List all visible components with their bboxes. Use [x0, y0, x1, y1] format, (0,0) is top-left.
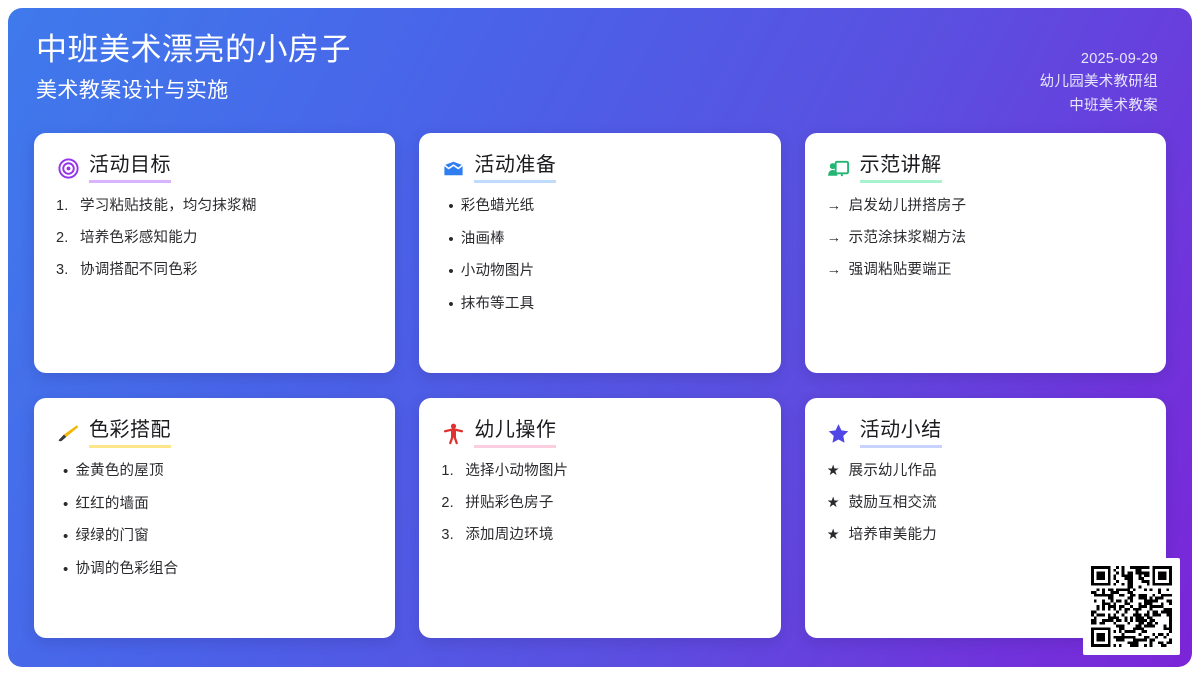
open-box-icon: [441, 156, 465, 180]
list-marker: •: [56, 462, 68, 482]
card-list: →启发幼儿拼搭房子→示范涂抹浆糊方法→强调粘贴要端正: [827, 197, 1144, 280]
list-item-text: 鼓励互相交流: [849, 494, 937, 513]
card-header: 活动目标: [56, 153, 373, 183]
list-marker: →: [827, 261, 842, 280]
list-marker: •: [56, 560, 68, 580]
page-title: 中班美术漂亮的小房子: [36, 30, 351, 70]
list-item: •绿绿的门窗: [56, 527, 373, 547]
list-item: 1.学习粘贴技能，均匀抹浆糊: [56, 197, 373, 216]
list-item-text: 金黄色的屋顶: [75, 462, 163, 481]
list-item-text: 油画棒: [461, 230, 505, 249]
list-item: ★培养审美能力: [827, 526, 1144, 545]
page-subtitle: 美术教案设计与实施: [36, 78, 351, 104]
slide-root: 中班美术漂亮的小房子 美术教案设计与实施 2025-09-29 幼儿园美术教研组…: [0, 0, 1200, 675]
card-list: ★展示幼儿作品★鼓励互相交流★培养审美能力: [827, 462, 1144, 545]
list-marker: •: [441, 262, 453, 282]
list-item-text: 培养审美能力: [849, 526, 937, 545]
list-item: ★展示幼儿作品: [827, 462, 1144, 481]
list-item-text: 协调的色彩组合: [75, 560, 178, 579]
card-list: •彩色蜡光纸•油画棒•小动物图片•抹布等工具: [441, 197, 758, 314]
card-header: 活动小结: [827, 418, 1144, 448]
card-title: 色彩搭配: [89, 418, 171, 448]
list-item-text: 强调粘贴要端正: [849, 261, 952, 280]
list-marker: •: [441, 197, 453, 217]
list-item: 1.选择小动物图片: [441, 462, 758, 481]
slide-canvas: 中班美术漂亮的小房子 美术教案设计与实施 2025-09-29 幼儿园美术教研组…: [8, 8, 1192, 667]
card-header: 示范讲解: [827, 153, 1144, 183]
list-item: •抹布等工具: [441, 295, 758, 315]
list-item: ★鼓励互相交流: [827, 494, 1144, 513]
list-item-text: 协调搭配不同色彩: [80, 261, 198, 280]
list-item-text: 启发幼儿拼搭房子: [849, 197, 967, 216]
card-title: 示范讲解: [860, 153, 942, 183]
list-marker: 1.: [441, 462, 458, 481]
paintbrush-icon: [56, 421, 80, 445]
list-item-text: 红红的墙面: [75, 495, 149, 514]
card-list: 1.学习粘贴技能，均匀抹浆糊2.培养色彩感知能力3.协调搭配不同色彩: [56, 197, 373, 280]
list-marker: 2.: [56, 229, 73, 248]
card-header: 活动准备: [441, 153, 758, 183]
list-marker: 3.: [56, 261, 73, 280]
card-title: 幼儿操作: [474, 418, 556, 448]
list-marker: ★: [827, 462, 842, 481]
card-activity-preparation: 活动准备•彩色蜡光纸•油画棒•小动物图片•抹布等工具: [419, 133, 780, 373]
card-header: 色彩搭配: [56, 418, 373, 448]
list-marker: •: [441, 295, 453, 315]
list-item-text: 选择小动物图片: [465, 462, 568, 481]
list-item: →启发幼儿拼搭房子: [827, 197, 1144, 216]
card-color-matching: 色彩搭配•金黄色的屋顶•红红的墙面•绿绿的门窗•协调的色彩组合: [34, 398, 395, 638]
list-item-text: 培养色彩感知能力: [80, 229, 198, 248]
qr-code-container[interactable]: [1083, 558, 1180, 655]
list-item: •小动物图片: [441, 262, 758, 282]
list-item: 2.培养色彩感知能力: [56, 229, 373, 248]
child-figure-icon: [441, 421, 465, 445]
list-marker: ★: [827, 526, 842, 545]
list-item-text: 学习粘贴技能，均匀抹浆糊: [80, 197, 256, 216]
list-marker: 3.: [441, 526, 458, 545]
list-item: •协调的色彩组合: [56, 560, 373, 580]
list-marker: •: [56, 527, 68, 547]
list-item-text: 拼贴彩色房子: [465, 494, 553, 513]
list-item: •彩色蜡光纸: [441, 197, 758, 217]
card-title: 活动小结: [860, 418, 942, 448]
list-item: 2.拼贴彩色房子: [441, 494, 758, 513]
target-icon: [56, 156, 80, 180]
slide-header: 中班美术漂亮的小房子 美术教案设计与实施 2025-09-29 幼儿园美术教研组…: [8, 8, 1192, 133]
list-item: 3.协调搭配不同色彩: [56, 261, 373, 280]
list-item: •红红的墙面: [56, 495, 373, 515]
list-item: 3.添加周边环境: [441, 526, 758, 545]
header-meta-block: 2025-09-29 幼儿园美术教研组 中班美术教案: [1040, 30, 1158, 118]
list-item-text: 小动物图片: [461, 262, 535, 281]
presenter-icon: [827, 156, 851, 180]
list-marker: •: [441, 230, 453, 250]
card-grid: 活动目标1.学习粘贴技能，均匀抹浆糊2.培养色彩感知能力3.协调搭配不同色彩活动…: [8, 133, 1192, 638]
header-organization: 幼儿园美术教研组: [1040, 71, 1158, 94]
card-demonstration-explanation: 示范讲解→启发幼儿拼搭房子→示范涂抹浆糊方法→强调粘贴要端正: [805, 133, 1166, 373]
list-item: →强调粘贴要端正: [827, 261, 1144, 280]
card-activity-goals: 活动目标1.学习粘贴技能，均匀抹浆糊2.培养色彩感知能力3.协调搭配不同色彩: [34, 133, 395, 373]
header-date: 2025-09-29: [1040, 48, 1158, 71]
list-item-text: 添加周边环境: [465, 526, 553, 545]
card-title: 活动目标: [89, 153, 171, 183]
card-header: 幼儿操作: [441, 418, 758, 448]
card-title: 活动准备: [474, 153, 556, 183]
star-icon: [827, 421, 851, 445]
qr-code: [1091, 566, 1172, 647]
list-marker: 2.: [441, 494, 458, 513]
list-item-text: 展示幼儿作品: [849, 462, 937, 481]
card-list: •金黄色的屋顶•红红的墙面•绿绿的门窗•协调的色彩组合: [56, 462, 373, 579]
card-children-operation: 幼儿操作1.选择小动物图片2.拼贴彩色房子3.添加周边环境: [419, 398, 780, 638]
list-marker: →: [827, 197, 842, 216]
list-item: →示范涂抹浆糊方法: [827, 229, 1144, 248]
list-marker: 1.: [56, 197, 73, 216]
list-marker: →: [827, 229, 842, 248]
list-item-text: 彩色蜡光纸: [461, 197, 535, 216]
list-marker: •: [56, 495, 68, 515]
list-item: •油画棒: [441, 230, 758, 250]
list-item-text: 抹布等工具: [461, 295, 535, 314]
list-item: •金黄色的屋顶: [56, 462, 373, 482]
list-marker: ★: [827, 494, 842, 513]
card-list: 1.选择小动物图片2.拼贴彩色房子3.添加周边环境: [441, 462, 758, 545]
list-item-text: 示范涂抹浆糊方法: [849, 229, 967, 248]
header-category: 中班美术教案: [1040, 95, 1158, 118]
list-item-text: 绿绿的门窗: [75, 527, 149, 546]
header-left-block: 中班美术漂亮的小房子 美术教案设计与实施: [36, 30, 351, 104]
